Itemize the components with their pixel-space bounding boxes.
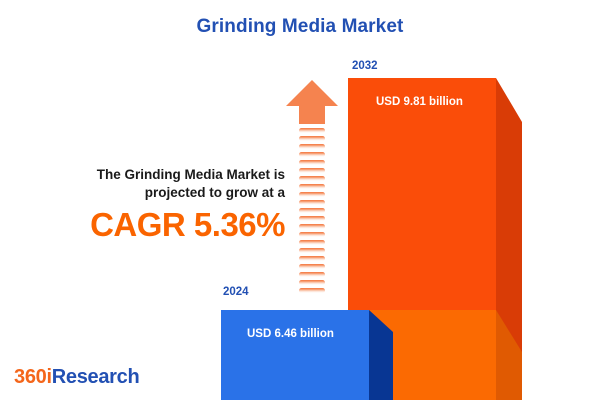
cagr-value: CAGR 5.36% [55, 206, 285, 244]
bar-side-face-2024 [369, 310, 393, 400]
bar-year-label-2032: 2032 [352, 60, 378, 72]
bar-front-face-2024 [221, 310, 369, 400]
infographic-canvas: Grinding Media Market The Grinding Media… [0, 0, 600, 400]
up-arrow-icon [285, 78, 339, 298]
bar-value-label-2032: USD 9.81 billion [376, 96, 463, 108]
cagr-statement: The Grinding Media Market is projected t… [55, 166, 285, 244]
logo-text-360: 360 [14, 366, 46, 388]
bar-year-label-2024: 2024 [223, 286, 249, 298]
statement-line-2: projected to grow at a [55, 184, 285, 202]
brand-logo: 360iResearch [14, 366, 139, 389]
bar-value-label-2024: USD 6.46 billion [247, 328, 334, 340]
page-title: Grinding Media Market [0, 16, 600, 38]
statement-line-1: The Grinding Media Market is [55, 166, 285, 184]
logo-text-research: Research [52, 366, 140, 388]
bar-2024: 2024 USD 6.46 billion [221, 286, 396, 400]
